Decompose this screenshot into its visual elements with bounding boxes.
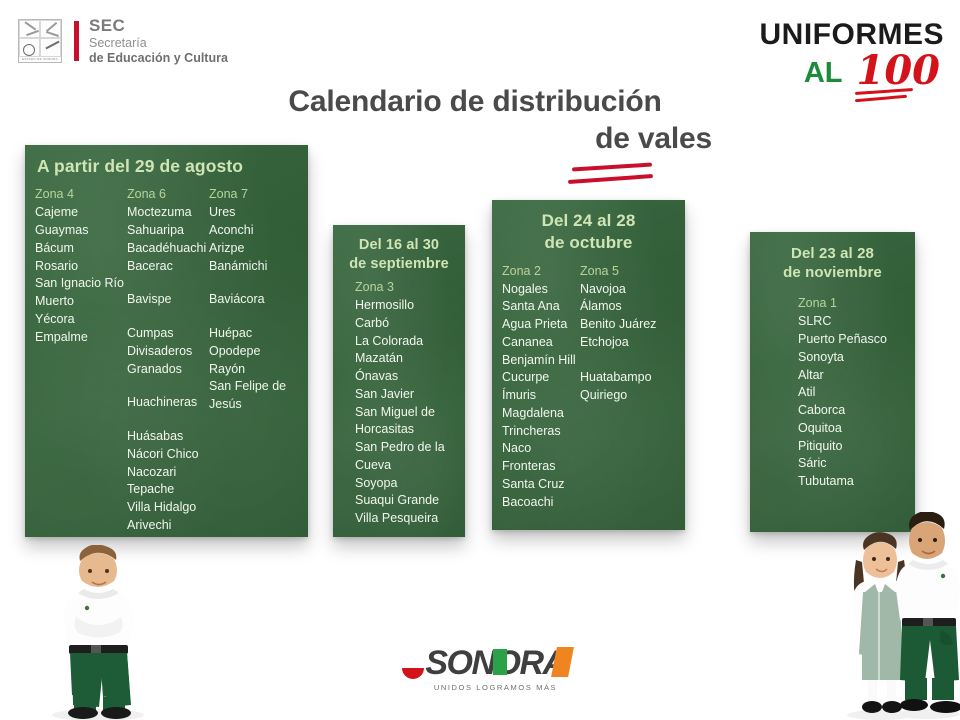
town-item: Navojoa (580, 281, 675, 299)
sec-name-line2: de Educación y Cultura (89, 51, 228, 66)
campaign-logo: UNIFORMES AL 100 (760, 20, 945, 88)
town-item: Bácum (35, 240, 127, 258)
town-item: Soyopa (355, 475, 459, 493)
town-item: Rosario (35, 258, 127, 276)
zona-label: Zona 1 (798, 296, 908, 310)
town-item: Nacozari (127, 464, 209, 482)
town-item: Etchojoa (580, 334, 675, 352)
town-item: Ures (209, 204, 301, 222)
badge-underline-2 (854, 95, 906, 103)
sonora-wordmark: SONORA (398, 645, 593, 681)
town-item: Cucurpe (502, 369, 580, 387)
town-item: Tepache (127, 481, 209, 499)
town-item: Huatabampo (580, 369, 675, 387)
town-item: Rayón (209, 361, 301, 379)
title-underline-decoration (560, 163, 690, 187)
town-item: Atil (798, 384, 908, 402)
town-item: San Pedro de la Cueva (355, 439, 459, 475)
town-item: Huépac (209, 325, 301, 343)
panel-septiembre-title-line1: Del 16 al 30 (333, 236, 465, 255)
town-item: Huachineras (127, 394, 209, 412)
panel-agosto: A partir del 29 de agosto Zona 4 Cajeme … (25, 145, 308, 537)
poster-canvas: ESTADO DE SONORA SEC Secretaría de Educa… (0, 0, 960, 720)
town-item: Huásabas (127, 428, 209, 446)
town-item: Agua Prieta (502, 316, 580, 334)
town-item: Oquitoa (798, 420, 908, 438)
town-item: Sonoyta (798, 349, 908, 367)
town-item: Puerto Peñasco (798, 331, 908, 349)
zona-label: Zona 5 (580, 264, 675, 278)
town-item: Santa Cruz (502, 476, 580, 494)
town-item: Moctezuma (127, 204, 209, 222)
sonora-red-accent (402, 668, 424, 679)
town-item: Trincheras (502, 423, 580, 441)
town-item: SLRC (798, 313, 908, 331)
sec-logo: ESTADO DE SONORA SEC Secretaría de Educa… (18, 16, 228, 66)
zona-label: Zona 2 (502, 264, 580, 278)
town-item: Cajeme (35, 204, 127, 222)
panel-agosto-title-line1: A partir del 29 de agosto (37, 156, 243, 176)
town-item: Sáric (798, 455, 908, 473)
town-item: La Colorada (355, 333, 459, 351)
town-item: Villa Hidalgo (127, 499, 209, 517)
town-item: Ímuris (502, 387, 580, 405)
panel-octubre-title-line1: Del 24 al 28 (492, 210, 685, 232)
town-item: Opodepe (209, 343, 301, 361)
panel-agosto-title: A partir del 29 de agosto (25, 145, 308, 177)
town-item: Cananea (502, 334, 580, 352)
town-item: Divisaderos (127, 343, 209, 361)
town-item: San Felipe de Jesús (209, 378, 301, 414)
town-item: Guaymas (35, 222, 127, 240)
town-item: Bacadéhuachi (127, 240, 209, 258)
sec-red-divider (74, 21, 79, 61)
panel-agosto-column-3: Zona 7 Ures Aconchi Arizpe Banámichi Bav… (209, 187, 301, 537)
campaign-badge-100: 100 (857, 54, 945, 88)
town-item: Santa Ana (502, 298, 580, 316)
town-item: Empalme (35, 329, 127, 347)
town-item: Arizpe (209, 240, 301, 258)
town-item: Mazatán (355, 350, 459, 368)
panel-agosto-column-2: Zona 6 Moctezuma Sahuaripa Bacadéhuachi … (127, 187, 209, 537)
town-item: Bavispe (127, 291, 209, 309)
town-item: Hermosillo (355, 297, 459, 315)
sec-name-line1: Secretaría (89, 36, 228, 51)
town-item: Yécora (35, 311, 127, 329)
town-item: Ónavas (355, 368, 459, 386)
campaign-line2: AL (804, 59, 843, 88)
town-item: Naco (502, 440, 580, 458)
sonora-logo: SONORA UNIDOS LOGRAMOS MÁS (398, 645, 593, 692)
town-item: Sahuaripa (127, 222, 209, 240)
town-item: Villa Pesqueira (355, 510, 459, 528)
sonora-green-accent (493, 649, 507, 675)
zona-label: Zona 7 (209, 187, 301, 201)
town-item: San Miguel de Horcasitas (355, 404, 459, 440)
panel-octubre: Del 24 al 28 de octubre Zona 2 Nogales S… (492, 200, 685, 530)
town-item: Benito Juárez (580, 316, 675, 334)
town-item: Bacoachi (502, 494, 580, 512)
town-item: San Ignacio Río Muerto (35, 275, 127, 311)
panel-noviembre-title: Del 23 al 28 de noviembre (750, 232, 915, 282)
town-item: Caborca (798, 402, 908, 420)
town-item: Banámichi (209, 258, 301, 276)
sec-crest-motto: ESTADO DE SONORA (19, 57, 61, 61)
town-item: Bacerac (127, 258, 209, 276)
town-item: Baviácora (209, 291, 301, 309)
sonora-tagline: UNIDOS LOGRAMOS MÁS (398, 683, 593, 692)
panel-noviembre: Del 23 al 28 de noviembre Zona 1 SLRC Pu… (750, 232, 915, 532)
panel-septiembre-title-line2: de septiembre (333, 255, 465, 274)
panel-agosto-column-1: Zona 4 Cajeme Guaymas Bácum Rosario San … (35, 187, 127, 537)
town-item: Álamos (580, 298, 675, 316)
town-item: Suaqui Grande (355, 492, 459, 510)
zona-label: Zona 4 (35, 187, 127, 201)
town-item: Cumpas (127, 325, 209, 343)
campaign-badge-text: 100 (857, 47, 941, 94)
town-item: Magdalena (502, 405, 580, 423)
campaign-line1: UNIFORMES (760, 20, 945, 50)
page-title-line1: Calendario de distribución (230, 84, 720, 121)
student-photo-boy-right (888, 512, 960, 720)
student-photo-boy-left (38, 545, 158, 720)
panel-octubre-column-1: Zona 2 Nogales Santa Ana Agua Prieta Can… (502, 264, 580, 512)
zona-label: Zona 3 (355, 280, 459, 294)
town-item: Altar (798, 367, 908, 385)
sec-acronym: SEC (89, 16, 228, 36)
panel-noviembre-title-line2: de noviembre (750, 263, 915, 282)
town-item: Fronteras (502, 458, 580, 476)
town-item: Aconchi (209, 222, 301, 240)
panel-noviembre-column-1: Zona 1 SLRC Puerto Peñasco Sonoyta Altar… (798, 296, 908, 491)
town-item: Granados (127, 361, 209, 379)
town-item: Benjamín Hill (502, 352, 580, 370)
panel-septiembre: Del 16 al 30 de septiembre Zona 3 Hermos… (333, 225, 465, 537)
panel-septiembre-title: Del 16 al 30 de septiembre (333, 225, 465, 273)
panel-septiembre-column-1: Zona 3 Hermosillo Carbó La Colorada Maza… (355, 280, 459, 528)
panel-octubre-title: Del 24 al 28 de octubre (492, 200, 685, 254)
town-item: Nogales (502, 281, 580, 299)
town-item: Arivechi (127, 517, 209, 535)
town-item: Carbó (355, 315, 459, 333)
town-item: Tubutama (798, 473, 908, 491)
town-item: San Javier (355, 386, 459, 404)
town-item: Nácori Chico (127, 446, 209, 464)
panel-octubre-column-2: Zona 5 Navojoa Álamos Benito Juárez Etch… (580, 264, 675, 512)
town-item: Quiriego (580, 387, 675, 405)
panel-noviembre-title-line1: Del 23 al 28 (750, 244, 915, 263)
town-item: Bacanora (127, 535, 209, 537)
sec-crest-icon: ESTADO DE SONORA (18, 19, 62, 63)
town-item: Pitiquito (798, 438, 908, 456)
panel-octubre-title-line2: de octubre (492, 232, 685, 254)
zona-label: Zona 6 (127, 187, 209, 201)
